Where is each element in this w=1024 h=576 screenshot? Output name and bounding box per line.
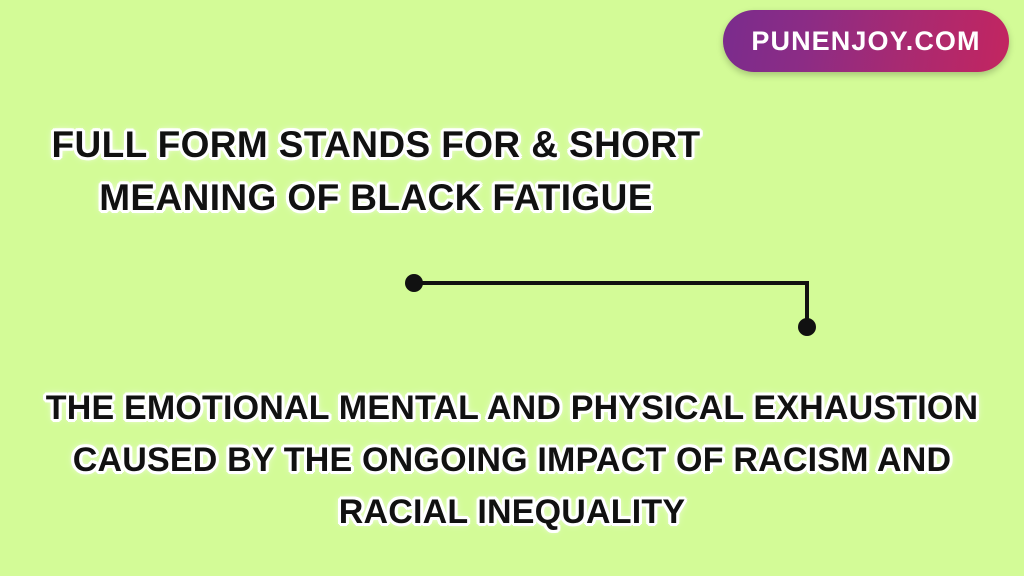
- elbow-connector-icon: [398, 266, 826, 344]
- definition-block: THE EMOTIONAL MENTAL AND PHYSICAL EXHAUS…: [0, 382, 1024, 538]
- connector-end-dot: [798, 318, 816, 336]
- connector-start-dot: [405, 274, 423, 292]
- page-title: FULL FORM STANDS FOR & SHORT MEANING OF …: [40, 118, 712, 224]
- infographic-canvas: PUNENJOY.COM FULL FORM STANDS FOR & SHOR…: [0, 0, 1024, 576]
- definition-line-2: CAUSED BY THE ONGOING IMPACT OF RACISM A…: [0, 434, 1024, 486]
- page-title-line-2: MEANING OF BLACK FATIGUE: [40, 171, 712, 224]
- watermark-label: PUNENJOY.COM: [751, 28, 980, 55]
- watermark-badge[interactable]: PUNENJOY.COM: [723, 10, 1009, 72]
- definition-line-3: RACIAL INEQUALITY: [0, 486, 1024, 538]
- page-title-line-1: FULL FORM STANDS FOR & SHORT: [40, 118, 712, 171]
- connector-path: [414, 283, 807, 327]
- definition-line-1: THE EMOTIONAL MENTAL AND PHYSICAL EXHAUS…: [0, 382, 1024, 434]
